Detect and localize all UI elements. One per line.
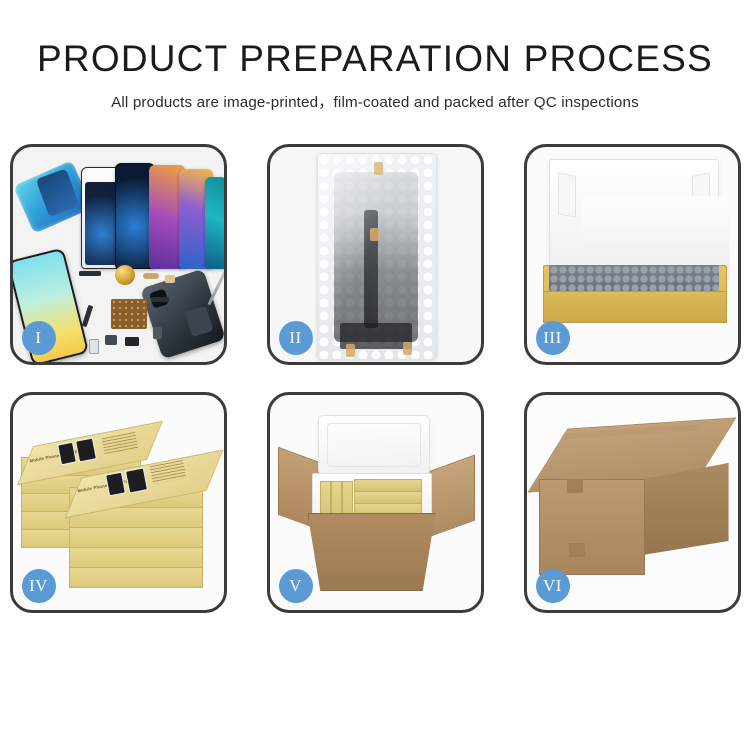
step-badge-3: III — [536, 321, 570, 355]
box-phone-graphic — [57, 442, 77, 466]
process-grid: I II — [0, 144, 750, 640]
styrofoam-lid — [318, 415, 430, 475]
component-part — [105, 335, 117, 345]
lid-ear — [558, 172, 576, 218]
component-part — [143, 273, 159, 279]
camera-ring-icon — [115, 265, 135, 285]
process-step-4[interactable]: Mobile Phone Spare Parts Mobile Phone Sp… — [10, 392, 227, 613]
screen-fan — [79, 157, 227, 269]
carton-side-face — [643, 463, 729, 555]
component-part — [165, 275, 175, 283]
retail-box-edge — [69, 567, 203, 588]
retail-box-edge — [69, 527, 203, 548]
carton-front-face — [539, 479, 645, 575]
kraft-tray-front — [543, 291, 727, 323]
step-badge-4: IV — [22, 569, 56, 603]
component-part — [153, 327, 162, 339]
retail-box-edge — [69, 547, 203, 568]
process-row-bottom: Mobile Phone Spare Parts Mobile Phone Sp… — [0, 392, 750, 613]
process-step-2[interactable]: II — [267, 144, 484, 365]
page-title: PRODUCT PREPARATION PROCESS — [0, 40, 750, 79]
screen-teal — [205, 177, 227, 269]
tape-tab — [374, 162, 383, 175]
tape-tab — [346, 344, 355, 357]
step-badge-6: VI — [536, 569, 570, 603]
box-phone-graphic — [75, 437, 97, 462]
component-part — [89, 339, 99, 354]
component-part — [79, 271, 101, 276]
page-header: PRODUCT PREPARATION PROCESS All products… — [0, 0, 750, 112]
process-step-5[interactable]: V — [267, 392, 484, 613]
foam-lid-flap — [549, 159, 719, 271]
process-step-6[interactable]: VI — [524, 392, 741, 613]
component-part — [125, 337, 139, 346]
tape-tab — [370, 228, 379, 241]
step-badge-1: I — [22, 321, 56, 355]
phone-back-housing — [140, 269, 226, 360]
tape-tab — [403, 342, 412, 355]
step-badge-5: V — [279, 569, 313, 603]
carton-body — [308, 513, 436, 591]
component-part — [151, 297, 169, 302]
process-step-1[interactable]: I — [10, 144, 227, 365]
page-subtitle: All products are image-printed，film-coat… — [0, 90, 750, 112]
bubble-wrap-bag — [317, 153, 437, 360]
box-phone-graphic — [105, 472, 126, 497]
carton-tape — [567, 479, 583, 493]
screw-grid — [111, 299, 147, 329]
tweezers-tool — [207, 265, 226, 306]
process-step-3[interactable]: III — [524, 144, 741, 365]
box-phone-graphic — [124, 467, 147, 493]
bubble-wrapped-contents — [549, 265, 719, 291]
step-badge-2: II — [279, 321, 313, 355]
carton-tape — [569, 543, 585, 557]
component-part — [81, 305, 93, 327]
process-row-top: I II — [0, 144, 750, 365]
